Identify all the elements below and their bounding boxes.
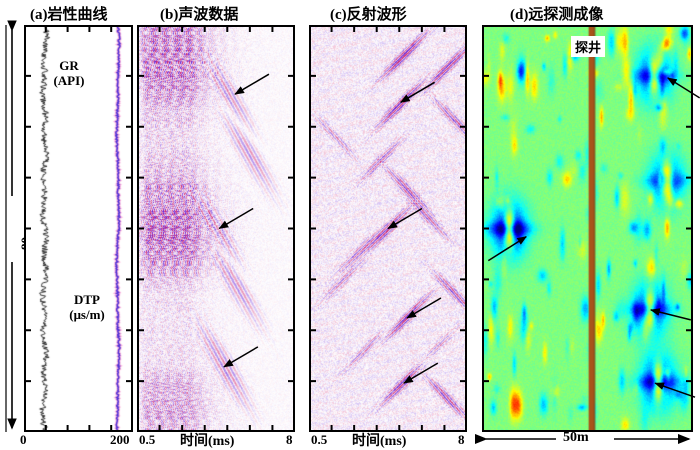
panel-d-canvas [484,27,691,430]
panel-b-xtick-min: 0.5 [139,432,155,448]
gr-label-text: GR [59,58,79,73]
panel-b-title: (b)声波数据 [160,3,238,24]
dtp-unit-text: (μs/m) [69,307,105,322]
panel-c-xlabel: 时间(ms) [352,430,406,450]
panel-c-title: (c)反射波形 [330,3,407,24]
dtp-label-text: DTP [74,292,100,307]
gr-curve-label: GR (API) [38,58,100,88]
panel-a-xtick-max: 200 [110,432,130,448]
panel-d-title: (d)远探测成像 [510,3,603,24]
panel-b-xlabel: 时间(ms) [180,430,234,450]
panel-b-acoustic-data[interactable] [137,25,295,432]
panel-b-canvas [139,27,293,430]
panel-c-xtick-max: 8 [458,432,465,448]
panel-c-reflection-waveform[interactable] [309,25,467,432]
panel-c-canvas [311,27,465,430]
dtp-curve-label: DTP (μs/m) [52,292,122,322]
figure-root: (a)岩性曲线 (b)声波数据 (c)反射波形 (d)远探测成像 80m GR … [0,0,700,449]
panel-a-xtick-min: 0 [20,432,27,448]
panel-b-xtick-max: 8 [286,432,293,448]
panel-d-scale-label: 50m [563,430,589,446]
panel-c-xtick-min: 0.5 [311,432,327,448]
gr-unit-text: (API) [53,73,84,88]
well-label: 探井 [571,36,605,57]
panel-d-remote-imaging[interactable] [482,25,693,432]
panel-a-title: (a)岩性曲线 [30,3,108,24]
